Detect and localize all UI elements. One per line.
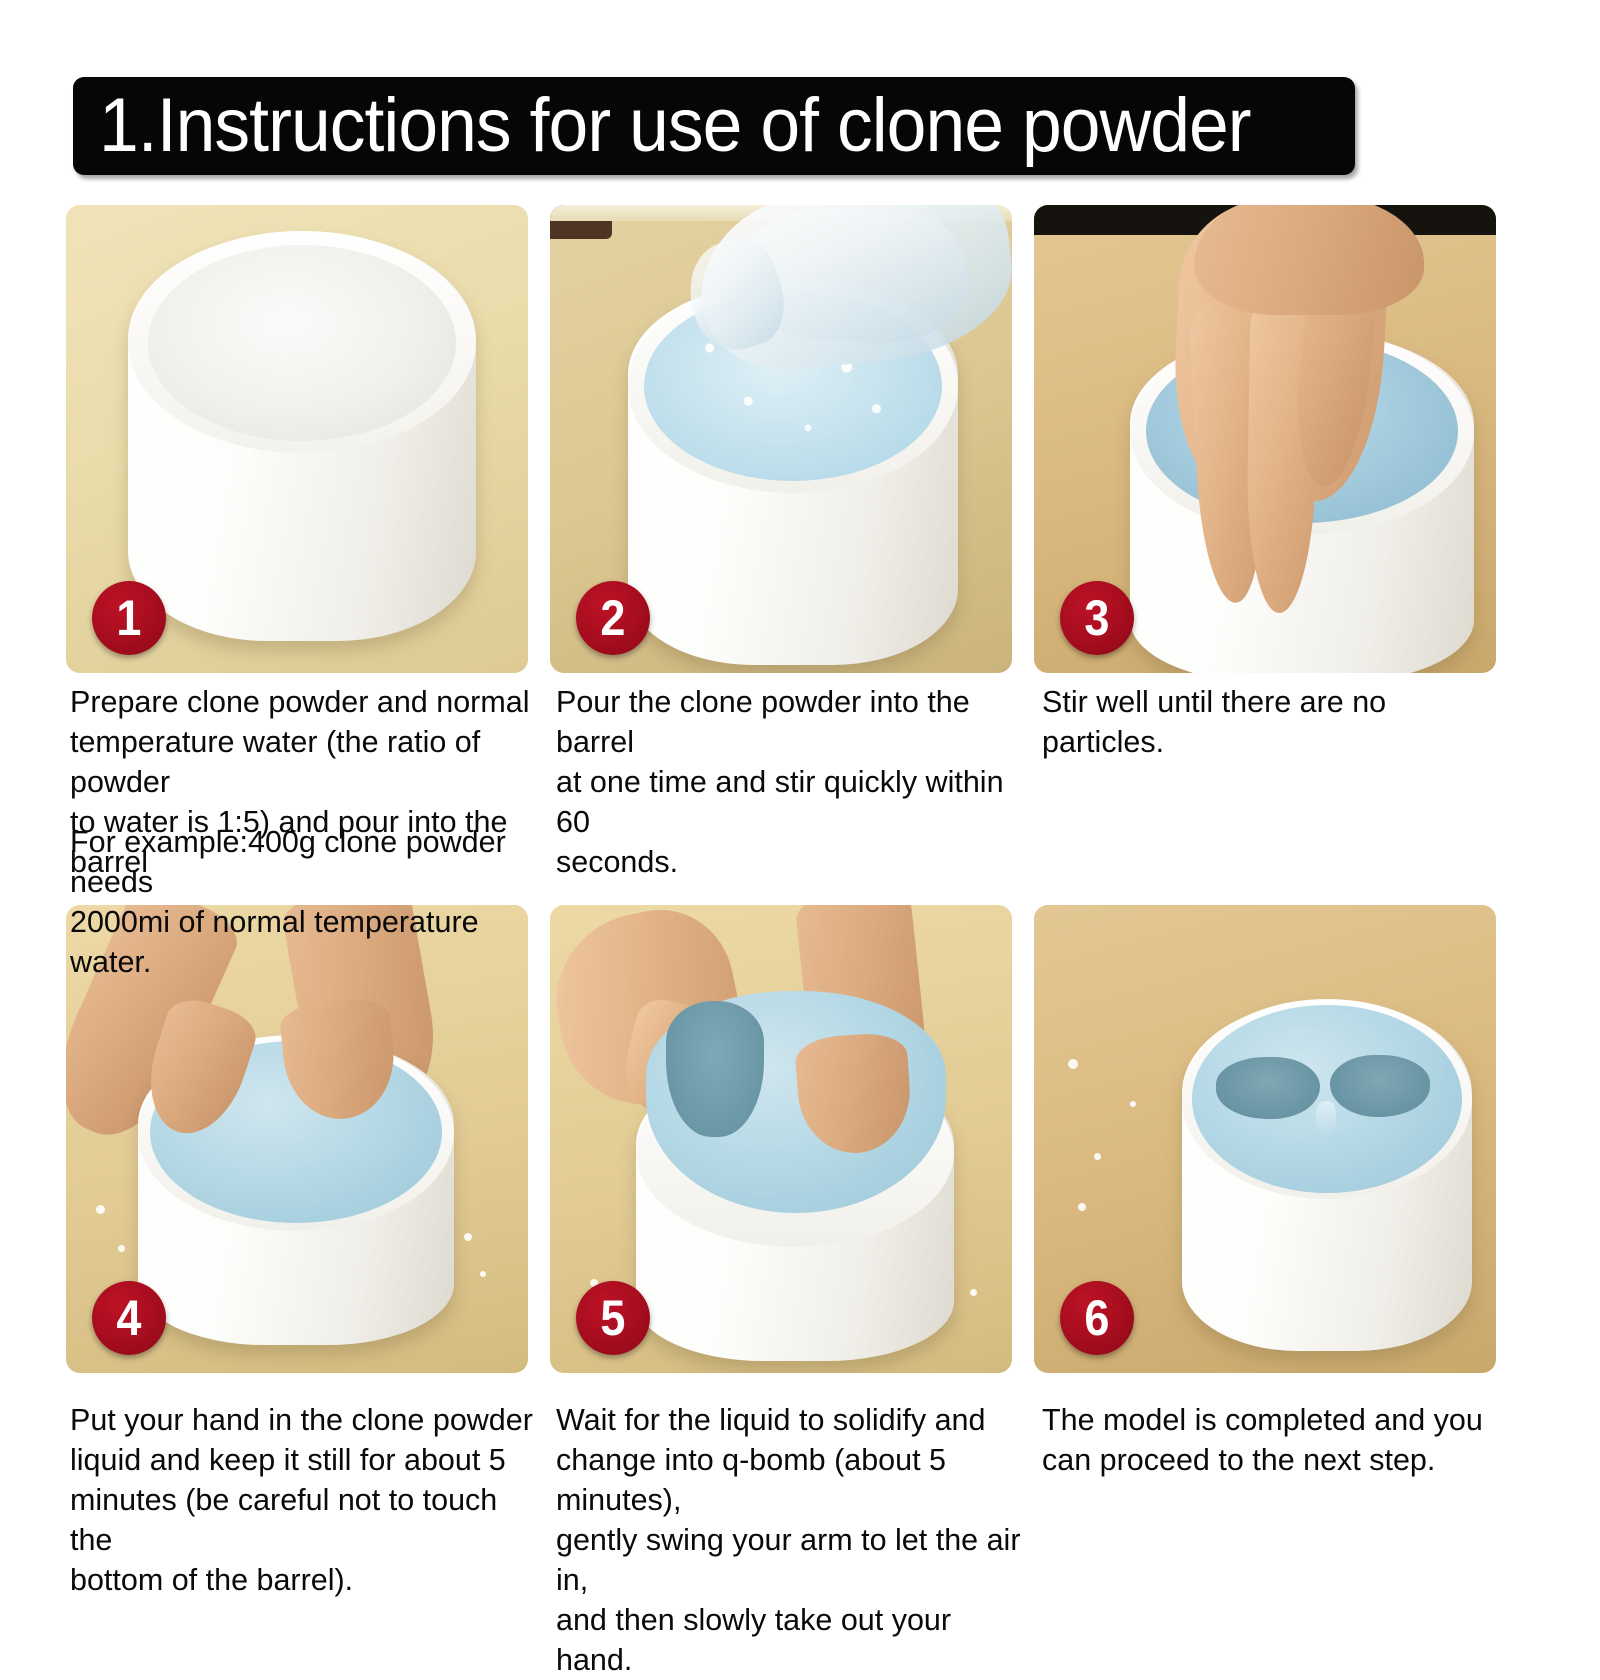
step-number-2: 2 bbox=[600, 593, 625, 643]
extra-note: For example:400g clone powder needs 2000… bbox=[70, 822, 540, 982]
step-number-6: 6 bbox=[1084, 1293, 1109, 1343]
step-caption-4: Put your hand in the clone powder liquid… bbox=[70, 1400, 540, 1600]
step-photo-1: 1 bbox=[66, 205, 528, 673]
step-panel-1: 1 bbox=[66, 205, 528, 673]
step-number-5: 5 bbox=[600, 1293, 625, 1343]
model-center-ridge bbox=[1316, 1101, 1336, 1135]
liquid-droplet bbox=[1130, 1101, 1136, 1107]
step-panel-6: 6 bbox=[1034, 905, 1496, 1373]
step-caption-6: The model is completed and you can proce… bbox=[1042, 1400, 1512, 1480]
step-photo-5: 5 bbox=[550, 905, 1012, 1373]
barrel-interior bbox=[148, 245, 456, 441]
liquid-droplet bbox=[464, 1233, 472, 1241]
step-panel-2: 2 bbox=[550, 205, 1012, 673]
step-badge-4: 4 bbox=[92, 1281, 166, 1355]
step-number-3: 3 bbox=[1084, 593, 1109, 643]
step-badge-5: 5 bbox=[576, 1281, 650, 1355]
liquid-droplet bbox=[118, 1245, 125, 1252]
liquid-droplet bbox=[1078, 1203, 1086, 1211]
model-cavity-left bbox=[1216, 1057, 1320, 1119]
step-panel-3: 3 bbox=[1034, 205, 1496, 673]
gel-cavity bbox=[666, 1001, 764, 1137]
step-badge-6: 6 bbox=[1060, 1281, 1134, 1355]
step-badge-2: 2 bbox=[576, 581, 650, 655]
step-caption-5: Wait for the liquid to solidify and chan… bbox=[556, 1400, 1026, 1680]
step-caption-3: Stir well until there are no particles. bbox=[1042, 682, 1512, 762]
liquid-droplet bbox=[1094, 1153, 1101, 1160]
infographic-page: 1.Instructions for use of clone powder 1 bbox=[0, 0, 1600, 1600]
step-badge-1: 1 bbox=[92, 581, 166, 655]
step-photo-2: 2 bbox=[550, 205, 1012, 673]
model-cavity-right bbox=[1330, 1055, 1430, 1117]
liquid-droplet bbox=[1068, 1059, 1078, 1069]
liquid-droplet bbox=[480, 1271, 486, 1277]
knuckles bbox=[1194, 205, 1424, 315]
step-photo-6: 6 bbox=[1034, 905, 1496, 1373]
liquid-droplet bbox=[96, 1205, 105, 1214]
step-panel-5: 5 bbox=[550, 905, 1012, 1373]
step-badge-3: 3 bbox=[1060, 581, 1134, 655]
step-caption-2: Pour the clone powder into the barrel at… bbox=[556, 682, 1026, 882]
step-number-1: 1 bbox=[116, 593, 141, 643]
step-number-4: 4 bbox=[116, 1293, 141, 1343]
step-photo-3: 3 bbox=[1034, 205, 1496, 673]
liquid-droplet bbox=[970, 1289, 977, 1296]
